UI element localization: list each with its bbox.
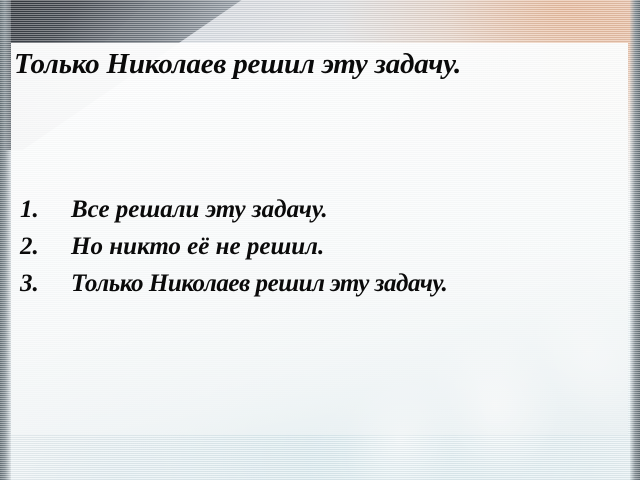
list-item-number: 2. — [20, 233, 39, 261]
list-item: 1. Все решали эту задачу. — [0, 196, 640, 233]
list-item: 2. Но никто её не решил. — [0, 233, 640, 270]
list-item-text: Все решали эту задачу. — [71, 196, 328, 224]
list-item: 3. Только Николаев решил эту задачу. — [0, 270, 640, 307]
list-item-number: 1. — [20, 196, 39, 224]
slide-content: Только Николаев решил эту задачу. 1. Все… — [0, 0, 640, 480]
slide-canvas: Только Николаев решил эту задачу. 1. Все… — [0, 0, 640, 480]
numbered-list: 1. Все решали эту задачу. 2. Но никто её… — [0, 196, 640, 307]
list-item-text: Только Николаев решил эту задачу. — [71, 270, 447, 298]
list-item-number: 3. — [20, 270, 39, 298]
slide-title: Только Николаев решил эту задачу. — [14, 48, 614, 81]
list-item-text: Но никто её не решил. — [71, 233, 324, 261]
